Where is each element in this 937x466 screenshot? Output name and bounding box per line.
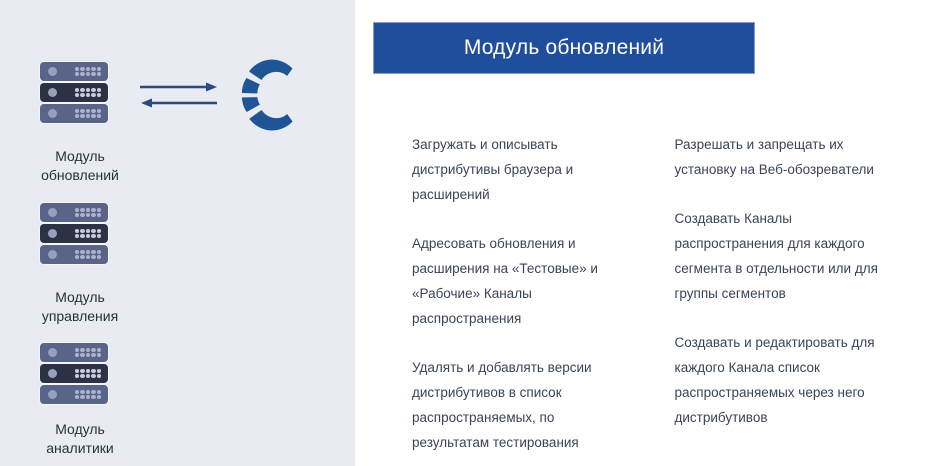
feature-item: Создавать и редактировать для каждого Ка… — [675, 330, 893, 430]
module-label-line1: Модуль — [0, 147, 160, 166]
server-vents-icon — [75, 67, 101, 76]
server-stack-icon-analytics — [40, 343, 108, 405]
module-label-line2: обновлений — [0, 166, 160, 185]
feature-item: Удалять и добавлять версии дистрибутивов… — [412, 355, 632, 455]
server-led-icon — [48, 390, 57, 399]
server-unit — [40, 83, 108, 102]
page-title: Модуль обновлений — [464, 36, 664, 60]
module-label-line2: управления — [0, 307, 160, 326]
bidirectional-arrows-icon — [139, 80, 219, 112]
server-vents-icon — [75, 250, 101, 259]
server-unit — [40, 224, 108, 243]
module-label-updates: Модуль обновлений — [0, 147, 160, 185]
feature-column-right: Разрешать и запрещать их установку на Ве… — [675, 132, 937, 466]
feature-columns: Загружать и описывать дистрибутивы брауз… — [355, 132, 937, 466]
server-led-icon — [48, 208, 57, 217]
server-led-icon — [48, 67, 57, 76]
server-led-icon — [48, 348, 57, 357]
server-led-icon — [48, 109, 57, 118]
server-stack-icon-updates — [40, 62, 108, 124]
server-vents-icon — [75, 109, 101, 118]
server-unit — [40, 104, 108, 123]
server-unit — [40, 203, 108, 222]
server-unit — [40, 385, 108, 404]
module-label-line1: Модуль — [0, 420, 160, 439]
server-vents-icon — [75, 348, 101, 357]
module-label-line1: Модуль — [0, 288, 160, 307]
module-label-analytics: Модуль аналитики — [0, 420, 160, 458]
server-led-icon — [48, 369, 57, 378]
illustration-panel: Модуль обновлений Модуль управления — [0, 0, 355, 466]
module-label-control: Модуль управления — [0, 288, 160, 326]
feature-item: Разрешать и запрещать их установку на Ве… — [675, 132, 893, 182]
server-stack-icon-control — [40, 203, 108, 265]
module-label-line2: аналитики — [0, 439, 160, 458]
feature-item: Загружать и описывать дистрибутивы брауз… — [412, 132, 632, 207]
c-segmented-logo-icon — [232, 56, 304, 134]
server-led-icon — [48, 88, 57, 97]
feature-item: Адресовать обновления и расширения на «Т… — [412, 231, 632, 331]
server-vents-icon — [75, 208, 101, 217]
server-led-icon — [48, 229, 57, 238]
content-panel: Модуль обновлений Загружать и описывать … — [355, 0, 937, 466]
server-unit — [40, 364, 108, 383]
server-unit — [40, 343, 108, 362]
title-banner: Модуль обновлений — [373, 22, 755, 74]
server-unit — [40, 62, 108, 81]
server-vents-icon — [75, 88, 101, 97]
feature-item: Создавать Каналы распространения для каж… — [675, 206, 893, 306]
server-vents-icon — [75, 369, 101, 378]
server-led-icon — [48, 250, 57, 259]
server-vents-icon — [75, 229, 101, 238]
server-vents-icon — [75, 390, 101, 399]
server-unit — [40, 245, 108, 264]
feature-column-left: Загружать и описывать дистрибутивы брауз… — [412, 132, 675, 466]
